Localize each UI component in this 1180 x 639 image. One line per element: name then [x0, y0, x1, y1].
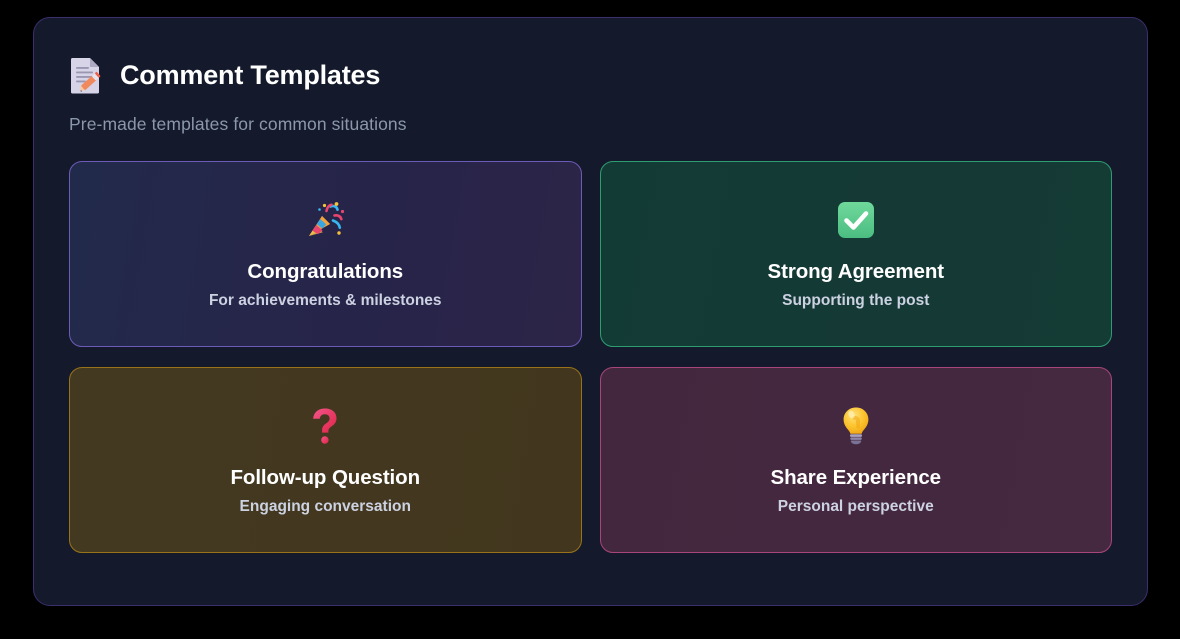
red-question-mark-icon [303, 404, 347, 448]
page-title: Comment Templates [120, 62, 380, 89]
template-card-description: For achievements & milestones [209, 292, 442, 310]
check-mark-button-icon [834, 198, 878, 242]
template-card-title: Share Experience [771, 466, 941, 490]
template-card-description: Engaging conversation [240, 498, 411, 516]
template-card-strong-agreement[interactable]: Strong Agreement Supporting the post [600, 161, 1113, 347]
template-card-description: Supporting the post [782, 292, 929, 310]
panel-header: Comment Templates [69, 52, 1112, 98]
template-cards-grid: Congratulations For achievements & miles… [69, 161, 1112, 553]
party-popper-icon [303, 198, 347, 242]
template-card-share-experience[interactable]: Share Experience Personal perspective [600, 367, 1113, 553]
template-card-description: Personal perspective [778, 498, 934, 516]
memo-icon [69, 56, 103, 94]
template-card-follow-up-question[interactable]: Follow-up Question Engaging conversation [69, 367, 582, 553]
comment-templates-panel: Comment Templates Pre-made templates for… [33, 17, 1148, 606]
template-card-title: Follow-up Question [230, 466, 420, 490]
page-root: Comment Templates Pre-made templates for… [0, 0, 1180, 639]
template-card-title: Congratulations [247, 260, 403, 284]
light-bulb-icon [834, 404, 878, 448]
template-card-congratulations[interactable]: Congratulations For achievements & miles… [69, 161, 582, 347]
page-subtitle: Pre-made templates for common situations [69, 114, 1112, 135]
template-card-title: Strong Agreement [768, 260, 944, 284]
